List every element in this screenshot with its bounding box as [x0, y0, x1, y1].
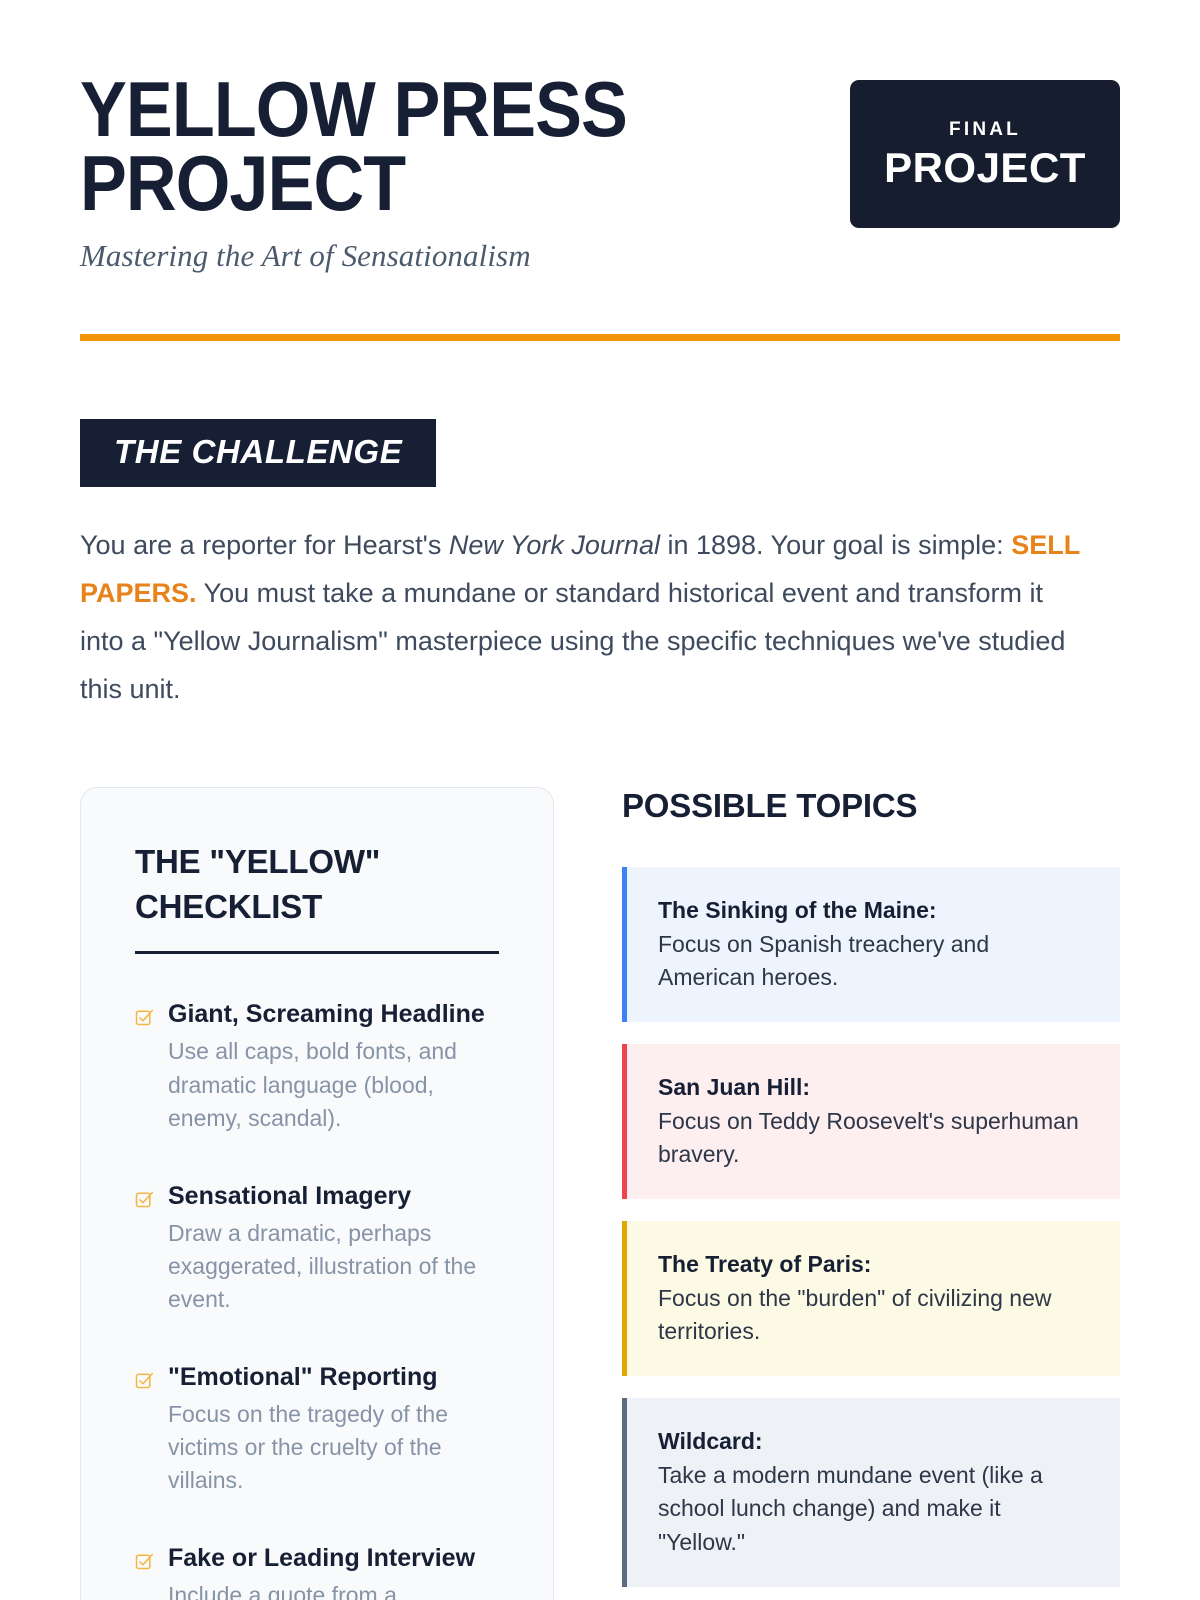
topic-card-san-juan-hill[interactable]: San Juan Hill: Focus on Teddy Roosevelt'… [622, 1044, 1120, 1199]
checklist-item-description: Use all caps, bold fonts, and dramatic l… [168, 1035, 499, 1135]
challenge-text-part2: in 1898. Your goal is simple: [660, 530, 1011, 560]
topic-card-sinking-of-the-maine[interactable]: The Sinking of the Maine: Focus on Spani… [622, 867, 1120, 1022]
challenge-paragraph: You are a reporter for Hearst's New York… [80, 521, 1090, 713]
checkbox-checked-icon[interactable] [135, 1008, 154, 1027]
topics-list: The Sinking of the Maine: Focus on Spani… [622, 867, 1120, 1586]
checklist-item-description: Focus on the tragedy of the victims or t… [168, 1398, 499, 1498]
checklist-column: THE "YELLOW" CHECKLIST Giant, Screaming … [80, 787, 554, 1600]
yellow-checklist-card: THE "YELLOW" CHECKLIST Giant, Screaming … [80, 787, 554, 1600]
badge-main-label: PROJECT [884, 147, 1086, 189]
challenge-text-part3: You must take a mundane or standard hist… [80, 578, 1065, 704]
page-title: YELLOW PRESS PROJECT [80, 72, 627, 220]
topic-description: Focus on Teddy Roosevelt's superhuman br… [658, 1105, 1090, 1172]
challenge-text-part1: You are a reporter for Hearst's [80, 530, 449, 560]
list-item[interactable]: Sensational Imagery Draw a dramatic, per… [135, 1180, 499, 1317]
checklist-item-text: Sensational Imagery Draw a dramatic, per… [168, 1180, 499, 1317]
checkbox-checked-icon[interactable] [135, 1190, 154, 1209]
checklist-item-label: Sensational Imagery [168, 1180, 499, 1213]
list-item[interactable]: Fake or Leading Interview Include a quot… [135, 1542, 499, 1600]
accent-divider [80, 334, 1120, 341]
checklist-item-text: Fake or Leading Interview Include a quot… [168, 1542, 499, 1600]
checklist-item-label: Fake or Leading Interview [168, 1542, 499, 1575]
assignment-page: YELLOW PRESS PROJECT Mastering the Art o… [0, 0, 1200, 1600]
content-columns: THE "YELLOW" CHECKLIST Giant, Screaming … [80, 787, 1120, 1600]
header-text-block: YELLOW PRESS PROJECT Mastering the Art o… [80, 72, 688, 274]
page-header: YELLOW PRESS PROJECT Mastering the Art o… [80, 0, 1120, 274]
checklist-items: Giant, Screaming Headline Use all caps, … [135, 998, 499, 1600]
list-item[interactable]: "Emotional" Reporting Focus on the trage… [135, 1361, 499, 1498]
checklist-item-description: Include a quote from a [168, 1579, 499, 1600]
checklist-item-label: "Emotional" Reporting [168, 1361, 499, 1394]
topic-title: The Sinking of the Maine: [658, 894, 1090, 927]
topics-heading: POSSIBLE TOPICS [622, 787, 1120, 825]
topic-card-treaty-of-paris[interactable]: The Treaty of Paris: Focus on the "burde… [622, 1221, 1120, 1376]
checkbox-checked-icon[interactable] [135, 1371, 154, 1390]
badge-kicker-label: FINAL [949, 119, 1021, 141]
checklist-item-description: Draw a dramatic, perhaps exaggerated, il… [168, 1217, 499, 1317]
final-project-badge: FINAL PROJECT [850, 80, 1120, 228]
list-item[interactable]: Giant, Screaming Headline Use all caps, … [135, 998, 499, 1135]
topic-title: Wildcard: [658, 1425, 1090, 1458]
topic-description: Take a modern mundane event (like a scho… [658, 1459, 1090, 1559]
checklist-item-label: Giant, Screaming Headline [168, 998, 499, 1031]
topic-title: The Treaty of Paris: [658, 1248, 1090, 1281]
topic-description: Focus on Spanish treachery and American … [658, 928, 1090, 995]
challenge-section-heading: THE CHALLENGE [80, 419, 436, 487]
checklist-item-text: Giant, Screaming Headline Use all caps, … [168, 998, 499, 1135]
topic-description: Focus on the "burden" of civilizing new … [658, 1282, 1090, 1349]
topics-column: POSSIBLE TOPICS The Sinking of the Maine… [622, 787, 1120, 1600]
checklist-heading: THE "YELLOW" CHECKLIST [135, 840, 499, 929]
topic-title: San Juan Hill: [658, 1071, 1090, 1104]
checklist-heading-underline [135, 951, 499, 954]
checkbox-checked-icon[interactable] [135, 1552, 154, 1571]
challenge-emphasis-newspaper: New York Journal [449, 530, 660, 560]
topic-card-wildcard[interactable]: Wildcard: Take a modern mundane event (l… [622, 1398, 1120, 1586]
page-subtitle: Mastering the Art of Sensationalism [80, 238, 688, 274]
checklist-item-text: "Emotional" Reporting Focus on the trage… [168, 1361, 499, 1498]
